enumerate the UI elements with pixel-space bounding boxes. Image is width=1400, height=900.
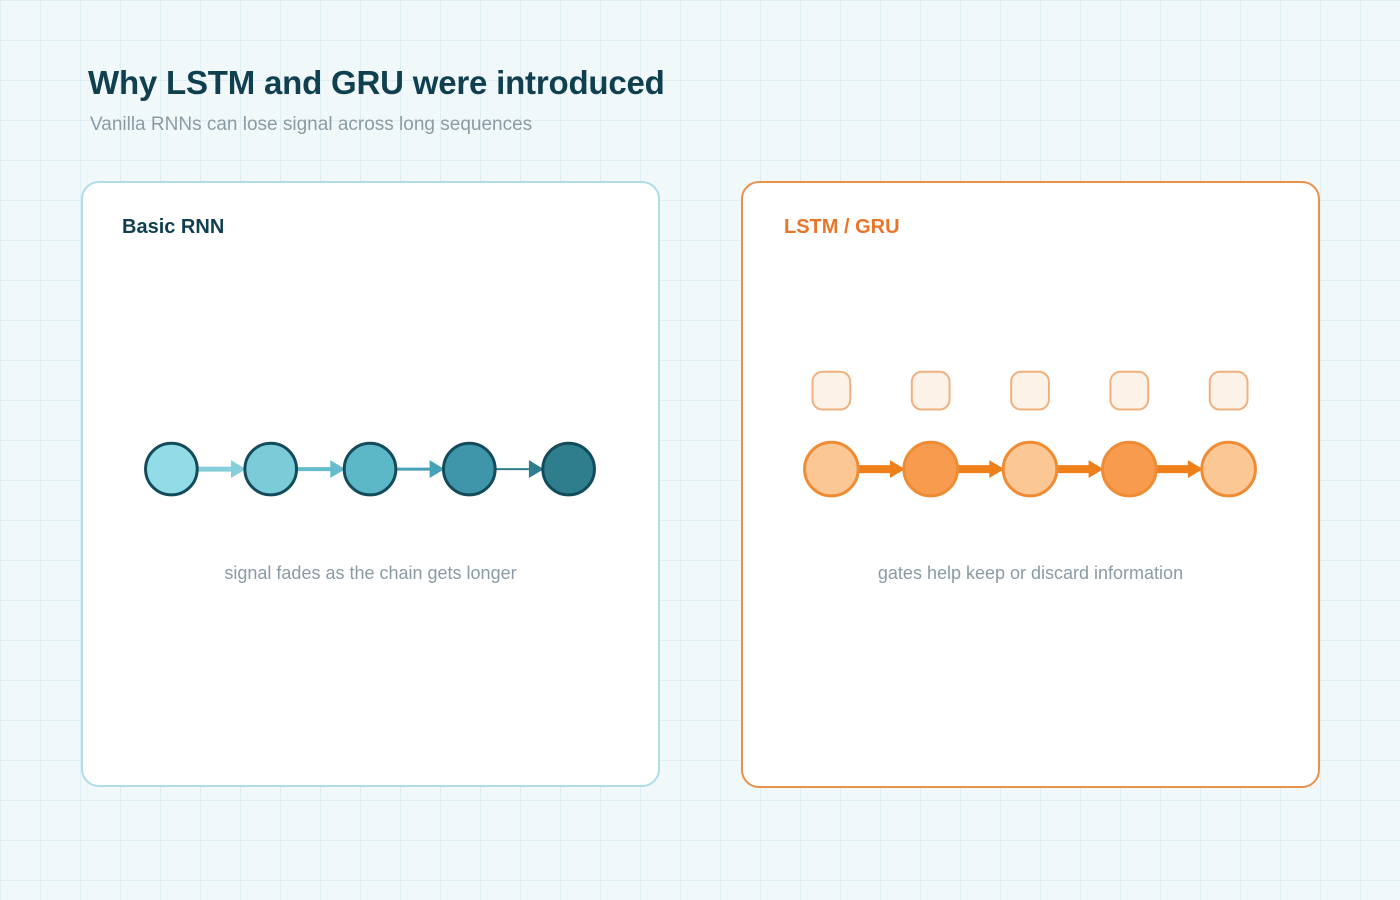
chain-arrow [958,460,1005,478]
arrow-head-icon [529,460,544,478]
gate-cell [912,372,950,410]
arrow-head-icon [890,460,905,478]
lstm-chain-diagram [743,183,1318,786]
chain-node [443,443,495,495]
chain-arrow [297,460,346,478]
card-title-basic-rnn: Basic RNN [122,216,224,239]
chain-node [1102,442,1156,496]
chain-node [245,443,297,495]
chain-node [1202,442,1256,496]
arrow-head-icon [330,460,345,478]
page-subtitle: Vanilla RNNs can lose signal across long… [90,114,532,136]
card-title-lstm-gru: LSTM / GRU [784,216,900,239]
rnn-chain-diagram [83,183,658,785]
arrow-head-icon [231,460,246,478]
gate-cell [1011,372,1049,410]
card-caption-lstm-gru: gates help keep or discard information [743,563,1318,584]
card-lstm-gru: LSTM / GRU gates help keep or discard in… [741,181,1320,788]
chain-arrow [858,460,905,478]
arrow-head-icon [1188,460,1203,478]
arrow-head-icon [430,460,445,478]
chain-node [805,442,859,496]
card-basic-rnn: Basic RNN signal fades as the chain gets… [81,181,660,787]
chain-node [904,442,958,496]
gate-cell [813,372,851,410]
chain-node [1003,442,1057,496]
card-caption-basic-rnn: signal fades as the chain gets longer [83,563,658,584]
chain-arrow [495,460,544,478]
gate-cell [1110,372,1148,410]
chain-arrow [197,460,246,478]
page-title: Why LSTM and GRU were introduced [88,64,665,102]
chain-node [543,443,595,495]
gate-cell [1210,372,1248,410]
arrow-head-icon [1089,460,1104,478]
chain-arrow [1057,460,1104,478]
chain-arrow [1156,460,1203,478]
chain-node [146,443,198,495]
chain-arrow [396,460,445,478]
chain-node [344,443,396,495]
arrow-head-icon [989,460,1004,478]
